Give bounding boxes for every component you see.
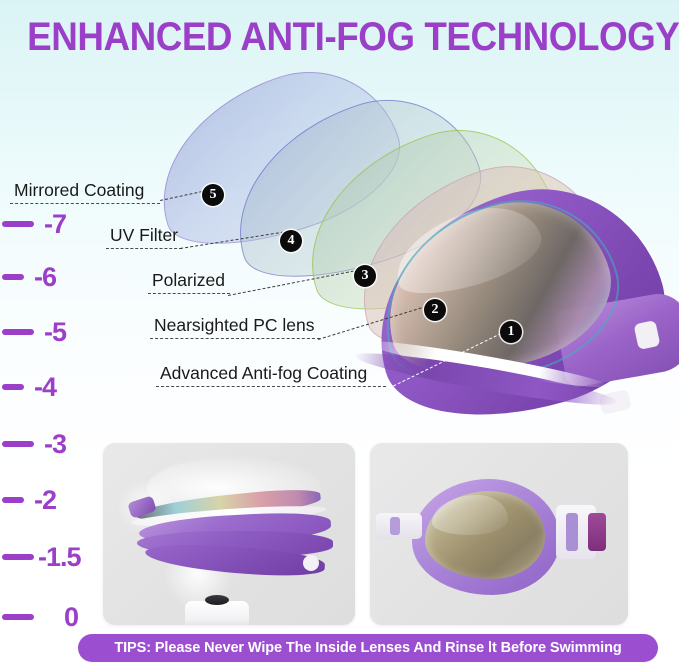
badge-5: 5 bbox=[202, 184, 224, 206]
scale-label: -6 bbox=[34, 262, 56, 293]
scale-row: 0 bbox=[0, 602, 78, 632]
humidifier-nozzle bbox=[205, 595, 229, 605]
scale-row: -1.5 bbox=[0, 542, 81, 572]
scale-label: -3 bbox=[44, 429, 66, 460]
callout-label: Mirrored Coating bbox=[10, 180, 160, 203]
goggle-eyecup-closeup-photo bbox=[370, 443, 628, 625]
scale-tick bbox=[2, 329, 34, 335]
callout-underline bbox=[148, 293, 230, 294]
scale-row: -2 bbox=[0, 485, 56, 515]
scale-row: -7 bbox=[0, 209, 66, 239]
product-infographic: ENHANCED ANTI-FOG TECHNOLOGY -7 bbox=[0, 0, 679, 667]
scale-row: -6 bbox=[0, 262, 56, 292]
scale-row: -4 bbox=[0, 372, 56, 402]
scale-label: 0 bbox=[64, 602, 78, 633]
callout-advanced-anti-fog-coating: Advanced Anti-fog Coating bbox=[156, 363, 386, 387]
callout-mirrored-coating: Mirrored Coating bbox=[10, 180, 160, 204]
scale-tick bbox=[2, 441, 34, 447]
eyecup-strap-end bbox=[588, 513, 606, 551]
callout-underline bbox=[150, 338, 320, 339]
eyecup-right-clip-detail bbox=[566, 513, 578, 551]
scale-label: -2 bbox=[34, 485, 56, 516]
badge-4: 4 bbox=[280, 230, 302, 252]
callout-underline bbox=[10, 203, 160, 204]
callout-underline bbox=[156, 386, 386, 387]
callout-nearsighted-pc-lens: Nearsighted PC lens bbox=[150, 315, 320, 339]
scale-tick bbox=[2, 274, 24, 280]
badge-3: 3 bbox=[354, 265, 376, 287]
callout-label: Nearsighted PC lens bbox=[150, 315, 320, 338]
callout-label: Advanced Anti-fog Coating bbox=[156, 363, 386, 386]
steam-photo-goggle-clip bbox=[303, 555, 319, 571]
scale-tick bbox=[2, 221, 34, 227]
eyecup-left-clip-detail bbox=[390, 517, 400, 535]
goggles-over-steam-photo bbox=[103, 443, 355, 625]
callout-label: Polarized bbox=[148, 270, 230, 293]
callout-polarized: Polarized bbox=[148, 270, 230, 294]
scale-tick bbox=[2, 554, 34, 560]
badge-2: 2 bbox=[424, 299, 446, 321]
scale-row: -3 bbox=[0, 429, 66, 459]
scale-tick bbox=[2, 614, 34, 620]
badge-1: 1 bbox=[500, 321, 522, 343]
callout-underline bbox=[106, 248, 182, 249]
tips-banner: TIPS: Please Never Wipe The Inside Lense… bbox=[78, 634, 658, 662]
callout-uv-filter: UV Filter bbox=[106, 225, 182, 249]
scale-tick bbox=[2, 384, 24, 390]
scale-label: -5 bbox=[44, 317, 66, 348]
scale-label: -4 bbox=[34, 372, 56, 403]
callout-label: UV Filter bbox=[106, 225, 182, 248]
scale-label: -1.5 bbox=[38, 542, 81, 573]
scale-tick bbox=[2, 497, 24, 503]
scale-label: -7 bbox=[44, 209, 66, 240]
scale-row: -5 bbox=[0, 317, 66, 347]
